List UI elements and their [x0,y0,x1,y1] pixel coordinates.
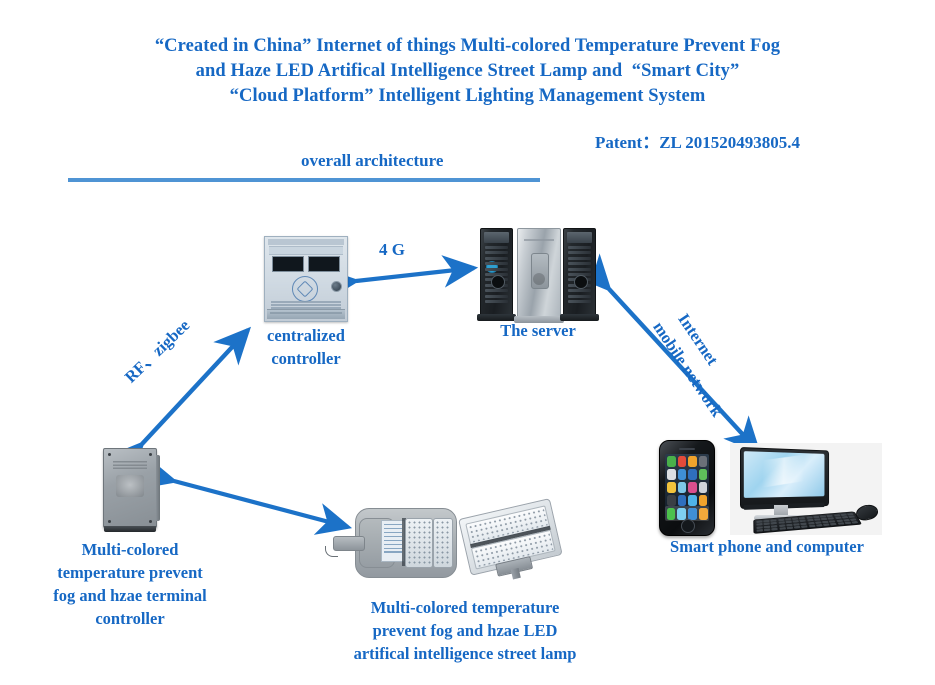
controller-emblem-icon [292,276,318,302]
terminal-base [104,526,156,532]
street-lamp-caption-line-1: Multi-colored temperature [321,596,609,619]
led-street-lamp-icon [345,498,560,590]
street-lamp-angled-view [458,499,564,590]
server-rack-icon [480,228,594,322]
controller-knob-icon [331,281,342,292]
smart-devices-caption: Smart phone and computer [622,535,912,558]
centralized-controller-caption: centralized controller [244,324,368,370]
terminal-controller-caption: Multi-colored temperature prevent fog an… [44,538,216,630]
section-heading: overall architecture [301,151,443,171]
terminal-controller-device-icon [103,448,157,528]
arrow-terminal-lamp [174,481,348,527]
street-lamp-caption-line-3: artifical intelligence street lamp [321,642,609,665]
terminal-side-panel [156,455,160,521]
page-title-line-1: “Created in China” Internet of things Mu… [0,34,935,59]
street-lamp-front-view [355,502,455,586]
terminal-label-lines [113,460,147,469]
architecture-diagram-page: “Created in China” Internet of things Mu… [0,0,935,685]
patent-number: Patent：ZL 201520493805.4 [595,128,800,153]
server-tower-middle [517,228,561,318]
terminal-screw-bottom-left-icon [108,520,111,523]
controller-display-right [308,256,340,272]
server-brand-logo-icon-2 [574,275,588,289]
controller-title-strip [269,246,343,255]
terminal-controller-caption-line-3: fog and hzae terminal [44,584,216,607]
smartphone-icon [659,440,715,536]
server-tower-right [563,228,596,316]
controller-bottom-strip [267,309,345,319]
terminal-screw-top-left-icon [108,453,111,456]
smart-devices-caption-line-1: Smart phone and computer [622,535,912,558]
terminal-controller-caption-line-2: temperature prevent [44,561,216,584]
centralized-controller-device-icon [264,236,348,322]
terminal-screw-top-right-icon [149,453,152,456]
controller-display-left [272,256,304,272]
server-caption-line-1: The server [468,319,608,342]
section-divider [68,178,540,182]
terminal-screw-bottom-right-icon [149,520,152,523]
lamp-cable-icon [325,546,338,557]
server-caption: The server [468,319,608,342]
page-title-line-2: and Haze LED Artifical Intelligence Stre… [0,59,935,84]
edge-label-rf-zigbee: RF、zigbee [118,313,194,388]
arrow-controller-server [356,268,474,281]
monitor [740,447,828,513]
mouse-icon [855,503,880,522]
lamp-led-module-2 [433,518,453,568]
centralized-controller-caption-line-1: centralized [244,324,368,347]
edge-label-4g: 4 G [379,240,405,260]
street-lamp-caption: Multi-colored temperature prevent fog an… [321,596,609,665]
terminal-controller-caption-line-4: controller [44,607,216,630]
centralized-controller-caption-line-2: controller [244,347,368,370]
phone-home-button-icon [681,519,695,533]
desktop-computer-icon [730,443,882,535]
terminal-embossed-logo-icon [116,475,144,497]
monitor-screen [744,451,825,498]
server-brand-logo-icon [491,275,505,289]
terminal-controller-caption-line-1: Multi-colored [44,538,216,561]
phone-earpiece-icon [679,448,695,450]
lamp-led-module-1 [405,518,433,568]
street-lamp-caption-line-2: prevent fog and hzae LED [321,619,609,642]
server-tower-left [480,228,513,316]
page-title-line-3: “Cloud Platform” Intelligent Lighting Ma… [0,84,935,109]
controller-top-strip [268,239,344,245]
page-title: “Created in China” Internet of things Mu… [0,34,935,109]
